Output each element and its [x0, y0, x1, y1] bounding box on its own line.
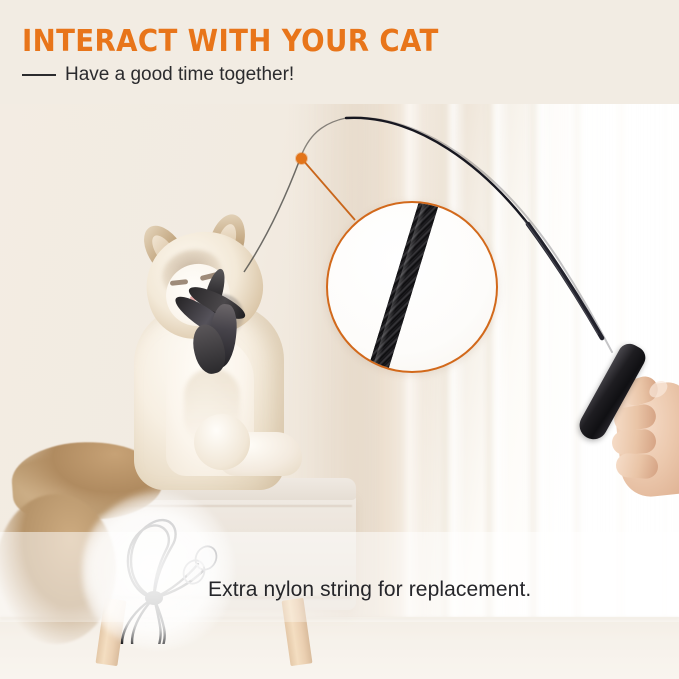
page-title: INTERACT WITH YOUR CAT	[22, 24, 439, 59]
em-dash-icon	[22, 74, 56, 76]
callout-anchor-dot	[296, 153, 307, 164]
spare-nylon-string-bundle	[88, 498, 228, 644]
page-subtitle: Have a good time together!	[65, 64, 294, 86]
subtitle-row: Have a good time together!	[22, 64, 294, 86]
magnifier-circle	[326, 201, 498, 373]
product-infographic: Extra nylon string for replacement. INTE…	[0, 0, 679, 679]
caption-text: Extra nylon string for replacement.	[208, 578, 531, 602]
bundle-white-glow	[82, 492, 234, 650]
